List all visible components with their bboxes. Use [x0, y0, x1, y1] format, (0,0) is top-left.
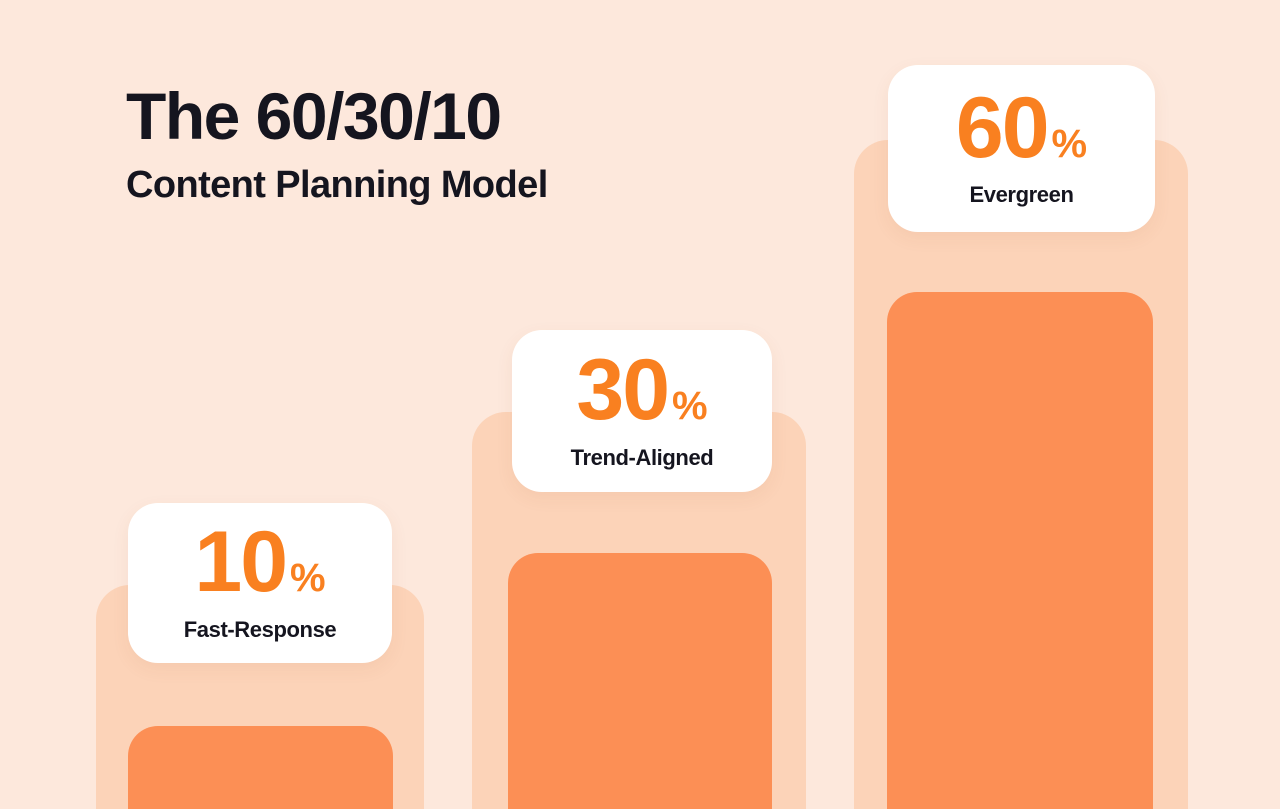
page-subtitle: Content Planning Model [126, 162, 766, 208]
page-title: The 60/30/10 [126, 78, 766, 154]
stat-card-evergreen[interactable]: 60 % Evergreen [888, 65, 1155, 232]
stat-label-fast-response: Fast-Response [184, 617, 337, 643]
infographic-canvas: The 60/30/10 Content Planning Model 10 %… [0, 0, 1280, 809]
stat-value-evergreen: 60 % [956, 89, 1087, 168]
bar-fill-fast-response[interactable] [128, 726, 393, 809]
stat-value-fast-response: 10 % [194, 523, 325, 602]
stat-number-fast-response: 10 [194, 523, 286, 602]
percent-sign-icon-trend-aligned: % [672, 386, 708, 426]
bar-fill-evergreen[interactable] [887, 292, 1153, 809]
percent-sign-icon-evergreen: % [1052, 124, 1088, 164]
stat-card-fast-response[interactable]: 10 % Fast-Response [128, 503, 392, 663]
stat-label-evergreen: Evergreen [969, 182, 1073, 208]
stat-value-trend-aligned: 30 % [576, 351, 707, 430]
stat-card-trend-aligned[interactable]: 30 % Trend-Aligned [512, 330, 772, 492]
stat-number-evergreen: 60 [956, 89, 1048, 168]
heading-block: The 60/30/10 Content Planning Model [126, 78, 766, 208]
stat-label-trend-aligned: Trend-Aligned [571, 445, 714, 471]
percent-sign-icon-fast-response: % [290, 558, 326, 598]
bar-fill-trend-aligned[interactable] [508, 553, 772, 809]
stat-number-trend-aligned: 30 [576, 351, 668, 430]
